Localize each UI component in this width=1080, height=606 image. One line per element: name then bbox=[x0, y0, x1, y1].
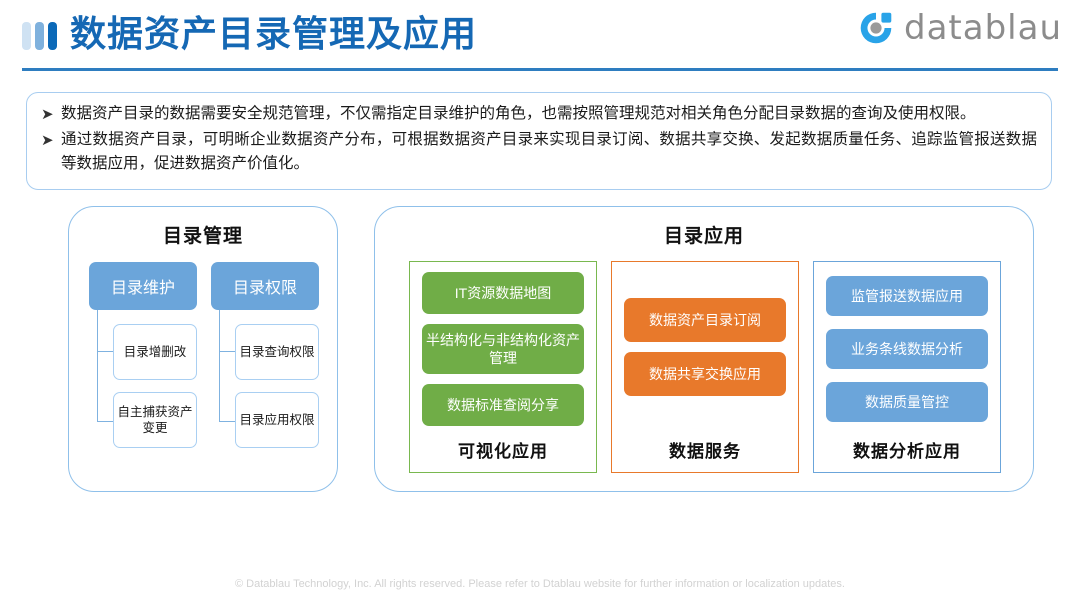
group-data-analysis: 监管报送数据应用 业务条线数据分析 数据质量管控 数据分析应用 bbox=[813, 261, 1001, 473]
datablau-logo: datablau bbox=[858, 10, 1062, 46]
group-label: 可视化应用 bbox=[410, 437, 596, 462]
application-chip[interactable]: 数据标准查阅分享 bbox=[422, 384, 584, 426]
catalog-management-panel: 目录管理 目录维护 目录增删改 自主捕获资产变更 目录权限 目录查询权限 目录应… bbox=[68, 206, 338, 492]
bar-icon-mid bbox=[35, 22, 44, 50]
bullet-text: 数据资产目录的数据需要安全规范管理，不仅需指定目录维护的角色，也需按照管理规范对… bbox=[61, 102, 1037, 126]
bar-icon-light bbox=[22, 22, 31, 50]
bullet-item: ➤ 通过数据资产目录，可明晰企业数据资产分布，可根据数据资产目录来实现目录订阅、… bbox=[41, 128, 1037, 176]
slide: 数据资产目录管理及应用 datablau ➤ 数据资产目录的数据需要安全规范管理… bbox=[0, 0, 1080, 606]
connector-line bbox=[97, 310, 113, 422]
application-chip[interactable]: 数据资产目录订阅 bbox=[624, 298, 786, 342]
application-chip[interactable]: 监管报送数据应用 bbox=[826, 276, 988, 316]
panel-heading: 目录应用 bbox=[375, 221, 1033, 248]
summary-callout: ➤ 数据资产目录的数据需要安全规范管理，不仅需指定目录维护的角色，也需按照管理规… bbox=[26, 92, 1052, 190]
application-groups: IT资源数据地图 半结构化与非结构化资产管理 数据标准查阅分享 可视化应用 数据… bbox=[409, 261, 1001, 473]
tree-column-permission: 目录权限 目录查询权限 目录应用权限 bbox=[211, 262, 319, 310]
tree-node-head[interactable]: 目录权限 bbox=[211, 262, 319, 310]
tree-node-child[interactable]: 目录查询权限 bbox=[235, 324, 319, 380]
header-divider bbox=[22, 68, 1058, 71]
arrow-bullet-icon: ➤ bbox=[41, 128, 61, 152]
tree-node-child[interactable]: 目录应用权限 bbox=[235, 392, 319, 448]
bullet-text: 通过数据资产目录，可明晰企业数据资产分布，可根据数据资产目录来实现目录订阅、数据… bbox=[61, 128, 1037, 176]
tree-column-maintenance: 目录维护 目录增删改 自主捕获资产变更 bbox=[89, 262, 197, 310]
bar-icon-dark bbox=[48, 22, 57, 50]
application-chip[interactable]: 半结构化与非结构化资产管理 bbox=[422, 324, 584, 374]
group-data-service: 数据资产目录订阅 数据共享交换应用 数据服务 bbox=[611, 261, 799, 473]
catalog-management-tree: 目录维护 目录增删改 自主捕获资产变更 目录权限 目录查询权限 目录应用权限 bbox=[69, 262, 337, 477]
tree-node-child[interactable]: 自主捕获资产变更 bbox=[113, 392, 197, 448]
group-visualization: IT资源数据地图 半结构化与非结构化资产管理 数据标准查阅分享 可视化应用 bbox=[409, 261, 597, 473]
application-chip[interactable]: 数据质量管控 bbox=[826, 382, 988, 422]
group-label: 数据服务 bbox=[612, 437, 798, 462]
copyright-footer: © Datablau Technology, Inc. All rights r… bbox=[0, 578, 1080, 590]
slide-header: 数据资产目录管理及应用 datablau bbox=[0, 0, 1080, 76]
logo-bars-icon bbox=[22, 22, 57, 50]
group-label: 数据分析应用 bbox=[814, 437, 1000, 462]
chip-list: 数据资产目录订阅 数据共享交换应用 bbox=[624, 298, 786, 396]
bullet-item: ➤ 数据资产目录的数据需要安全规范管理，不仅需指定目录维护的角色，也需按照管理规… bbox=[41, 102, 1037, 126]
arrow-bullet-icon: ➤ bbox=[41, 102, 61, 126]
chip-list: IT资源数据地图 半结构化与非结构化资产管理 数据标准查阅分享 bbox=[422, 272, 584, 426]
datablau-wordmark: datablau bbox=[904, 10, 1062, 46]
application-chip[interactable]: 业务条线数据分析 bbox=[826, 329, 988, 369]
panel-heading: 目录管理 bbox=[69, 221, 337, 248]
tree-node-child[interactable]: 目录增删改 bbox=[113, 324, 197, 380]
page-title: 数据资产目录管理及应用 bbox=[70, 8, 477, 60]
application-chip[interactable]: 数据共享交换应用 bbox=[624, 352, 786, 396]
connector-line bbox=[219, 310, 235, 422]
application-chip[interactable]: IT资源数据地图 bbox=[422, 272, 584, 314]
catalog-application-panel: 目录应用 IT资源数据地图 半结构化与非结构化资产管理 数据标准查阅分享 可视化… bbox=[374, 206, 1034, 492]
tree-node-head[interactable]: 目录维护 bbox=[89, 262, 197, 310]
chip-list: 监管报送数据应用 业务条线数据分析 数据质量管控 bbox=[826, 276, 988, 422]
datablau-mark-icon bbox=[858, 10, 894, 46]
